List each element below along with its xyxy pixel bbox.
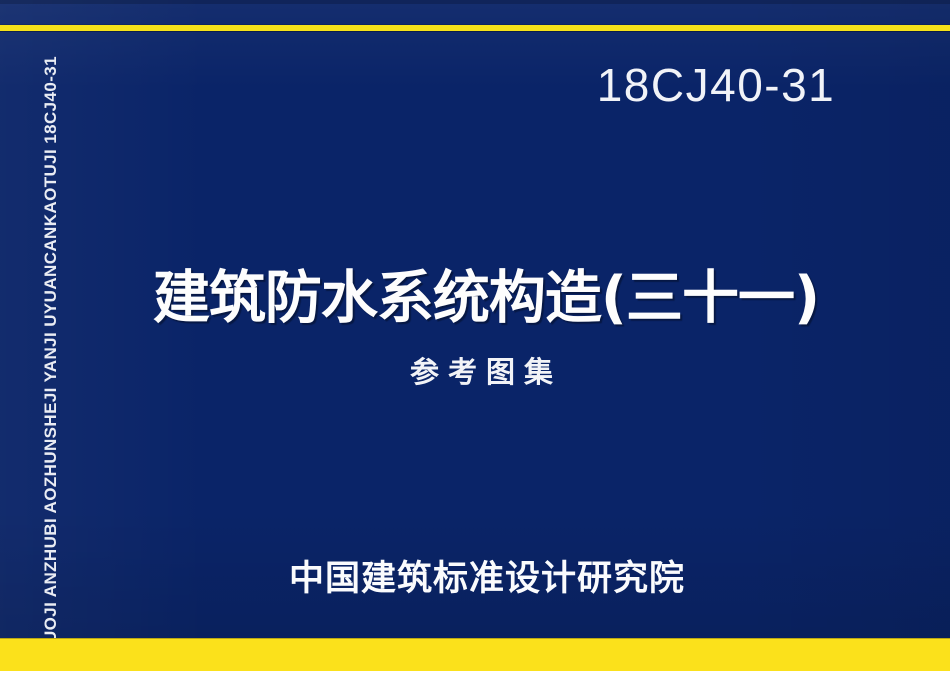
spine-label: ZHONGGUOJI ANZHUBI AOZHUNSHEJI YANJI UYU… bbox=[29, 56, 73, 606]
bottom-yellow-band bbox=[0, 638, 950, 671]
page-title: 建筑防水系统构造(三十一) bbox=[0, 262, 950, 334]
book-cover-page: 18CJ40-31 建筑防水系统构造(三十一) 参考图集 中国建筑标准设计研究院… bbox=[0, 0, 950, 689]
catalog-code: 18CJ40-31 bbox=[591, 58, 841, 112]
institute-name: 中国建筑标准设计研究院 bbox=[0, 556, 950, 602]
top-yellow-rule bbox=[0, 25, 950, 31]
page-subtitle: 参考图集 bbox=[0, 353, 950, 391]
bottom-white-margin bbox=[0, 671, 950, 689]
top-seam-divider bbox=[0, 0, 950, 4]
spine-pinyin-text: ZHONGGUOJI ANZHUBI AOZHUNSHEJI YANJI UYU… bbox=[41, 56, 61, 689]
